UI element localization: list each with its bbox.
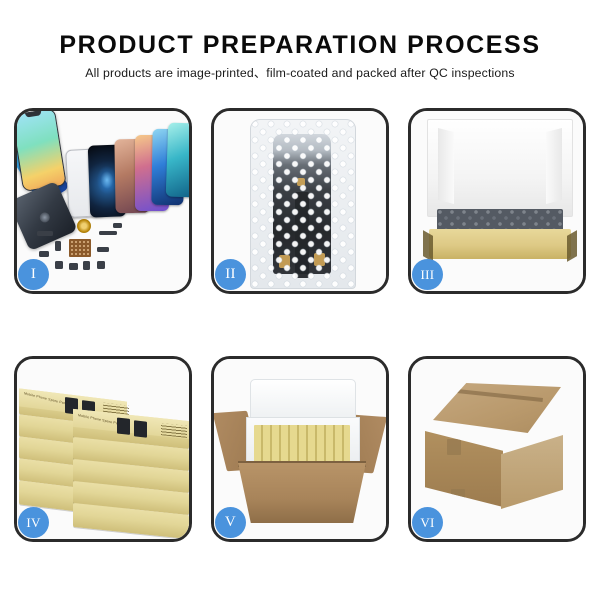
- carton-seam: [447, 388, 543, 402]
- white-foam-lid: [427, 119, 573, 217]
- page-title: PRODUCT PREPARATION PROCESS: [0, 30, 600, 60]
- bubble-texture: [251, 120, 355, 288]
- carton-body: [238, 463, 366, 523]
- process-step-panel-1: I: [14, 108, 192, 294]
- process-step-panel-6: VI: [408, 356, 586, 542]
- spare-part: [113, 223, 122, 228]
- spare-part: [97, 247, 109, 252]
- spare-part: [55, 261, 63, 269]
- packed-retail-boxes: [254, 425, 350, 463]
- step-badge-4: IV: [18, 507, 49, 538]
- page-subtitle: All products are image-printed、film-coat…: [0, 63, 600, 83]
- carton-tape-mark: [447, 439, 461, 455]
- carton-top-face: [433, 383, 561, 433]
- carton-tape-mark: [451, 489, 465, 505]
- step-badge-6: VI: [412, 507, 443, 538]
- step-badge-5: V: [215, 507, 246, 538]
- process-step-grid: I II III: [14, 108, 586, 542]
- spare-part: [69, 263, 78, 270]
- spare-part: [39, 251, 49, 257]
- chip-grid-part: [69, 239, 91, 257]
- copper-coil-part: [77, 219, 91, 233]
- bubble-wrap-package: [250, 119, 356, 289]
- foam-flap-right: [546, 128, 562, 204]
- step-badge-3: III: [412, 259, 443, 290]
- spare-part: [55, 241, 61, 251]
- process-step-panel-3: III: [408, 108, 586, 294]
- process-step-panel-4: Mobile Phone Spare Parts Mobile Phone Sp…: [14, 356, 192, 542]
- header: PRODUCT PREPARATION PROCESS All products…: [0, 0, 600, 83]
- process-step-panel-5: V: [211, 356, 389, 542]
- foam-flap-left: [438, 128, 454, 204]
- step-badge-2: II: [215, 259, 246, 290]
- box-product-swatch: [117, 418, 130, 435]
- sealed-shipping-carton: [425, 383, 571, 509]
- box-product-swatch: [134, 420, 147, 437]
- kraft-box-base: [429, 229, 571, 259]
- step-badge-1: I: [18, 259, 49, 290]
- stacked-retail-boxes: Mobile Phone Spare Parts Mobile Phone Sp…: [19, 377, 189, 525]
- teal-phone-display: [166, 122, 189, 197]
- spare-part: [37, 231, 53, 236]
- spare-part: [83, 261, 90, 270]
- process-step-panel-2: II: [211, 108, 389, 294]
- spare-part: [97, 261, 105, 269]
- carton-front-face: [425, 431, 503, 507]
- carton-side-face: [501, 435, 563, 509]
- spare-part: [99, 231, 117, 235]
- notch-phone-display: [17, 111, 67, 192]
